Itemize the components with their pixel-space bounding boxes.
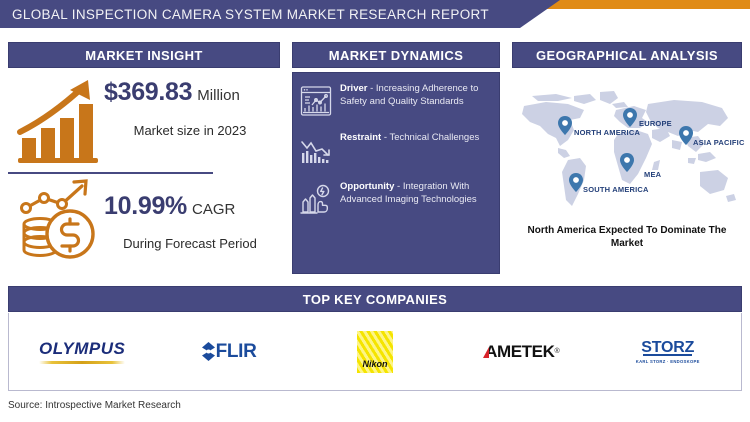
storz-subtext: KARL STORZ · ENDOSKOPE (636, 359, 700, 364)
opportunity-growth-hand-icon (299, 182, 333, 216)
ametek-triangle-icon (483, 347, 489, 358)
company-logo-nikon: Nikon (307, 329, 442, 375)
map-label-asia-pacific: ASIA PACIFIC (693, 138, 745, 147)
company-logo-ametek: AMETEK ® (454, 329, 589, 375)
market-size-text: $369.83Million Market size in 2023 (104, 78, 282, 138)
company-logo-flir: FLIR (161, 329, 296, 375)
storz-wordmark: STORZ (641, 339, 694, 357)
map-pin-asia-pacific[interactable] (679, 126, 693, 145)
market-size-unit: Million (197, 87, 240, 104)
source-credit: Source: Introspective Market Research (8, 400, 181, 411)
nikon-wordmark: Nikon (362, 359, 387, 369)
cagr-metric: 10.99%CAGR During Forecast Period (8, 170, 280, 268)
company-logo-olympus: OLYMPUS (15, 329, 150, 375)
dynamics-restraint-body: Technical Challenges (389, 132, 479, 143)
market-size-caption: Market size in 2023 (104, 123, 282, 138)
flir-wordmark: FLIR (216, 341, 257, 363)
market-insight-panel: $369.83Million Market size in 2023 (8, 72, 280, 274)
cagr-caption: During Forecast Period (104, 236, 282, 251)
olympus-swoosh (39, 361, 125, 364)
map-pin-mea[interactable] (620, 153, 634, 172)
ametek-trademark: ® (554, 348, 559, 355)
market-dynamics-header: MARKET DYNAMICS (292, 42, 500, 68)
declining-chart-icon (299, 133, 333, 167)
map-label-europe: EUROPE (639, 119, 672, 128)
geographical-analysis-panel: NORTH AMERICA EUROPE ASIA PACIFIC MEA SO… (512, 72, 742, 274)
map-label-mea: MEA (644, 170, 661, 179)
dynamics-restraint-text: Restraint - Technical Challenges (340, 132, 479, 145)
market-insight-heading: MARKET INSIGHT (85, 48, 203, 63)
coins-line-chart-icon (14, 174, 106, 264)
cagr-value: 10.99% (104, 192, 187, 220)
dynamics-opportunity-dash: - (394, 181, 402, 192)
dynamics-opportunity-text: Opportunity - Integration With Advanced … (340, 181, 491, 206)
cagr-text: 10.99%CAGR During Forecast Period (104, 192, 282, 251)
market-size-metric: $369.83Million Market size in 2023 (8, 72, 280, 170)
map-label-south-america: SOUTH AMERICA (583, 185, 649, 194)
market-size-value: $369.83 (104, 78, 192, 106)
world-map: NORTH AMERICA EUROPE ASIA PACIFIC MEA SO… (512, 88, 742, 216)
analytics-dashboard-icon (299, 84, 333, 118)
dynamics-restraint-label: Restraint (340, 132, 381, 143)
geographical-analysis-heading: GEOGRAPHICAL ANALYSIS (536, 48, 718, 63)
market-dynamics-heading: MARKET DYNAMICS (329, 48, 464, 63)
dynamics-opportunity-label: Opportunity (340, 181, 394, 192)
map-label-north-america: NORTH AMERICA (574, 128, 640, 137)
top-key-companies-header: TOP KEY COMPANIES (8, 286, 742, 312)
map-pin-south-america[interactable] (569, 173, 583, 192)
top-key-companies-panel: OLYMPUS FLIR Nikon AMET (8, 313, 742, 391)
geographical-analysis-header: GEOGRAPHICAL ANALYSIS (512, 42, 742, 68)
market-insight-header: MARKET INSIGHT (8, 42, 280, 68)
dynamics-driver-text: Driver - Increasing Adherence to Safety … (340, 83, 491, 108)
ametek-wordmark: AMETEK (485, 342, 554, 362)
infographic-page: GLOBAL INSPECTION CAMERA SYSTEM MARKET R… (0, 0, 750, 422)
dynamics-item-opportunity: Opportunity - Integration With Advanced … (299, 181, 491, 216)
map-pin-north-america[interactable] (558, 116, 572, 135)
report-title-banner: GLOBAL INSPECTION CAMERA SYSTEM MARKET R… (0, 0, 560, 28)
report-title: GLOBAL INSPECTION CAMERA SYSTEM MARKET R… (0, 7, 489, 22)
dynamics-driver-dash: - (367, 83, 375, 94)
dynamics-item-driver: Driver - Increasing Adherence to Safety … (299, 83, 491, 118)
cagr-unit: CAGR (192, 201, 235, 218)
olympus-wordmark: OLYMPUS (39, 339, 125, 359)
geographical-note: North America Expected To Dominate The M… (520, 224, 734, 250)
dynamics-item-restraint: Restraint - Technical Challenges (299, 132, 491, 167)
map-pin-europe[interactable] (623, 108, 637, 127)
market-dynamics-panel: Driver - Increasing Adherence to Safety … (292, 72, 500, 274)
company-logo-storz: STORZ KARL STORZ · ENDOSKOPE (600, 329, 735, 375)
dynamics-driver-label: Driver (340, 83, 367, 94)
bar-chart-growth-icon (14, 76, 106, 166)
flir-diamond-icon (201, 342, 216, 361)
top-key-companies-heading: TOP KEY COMPANIES (303, 292, 448, 307)
